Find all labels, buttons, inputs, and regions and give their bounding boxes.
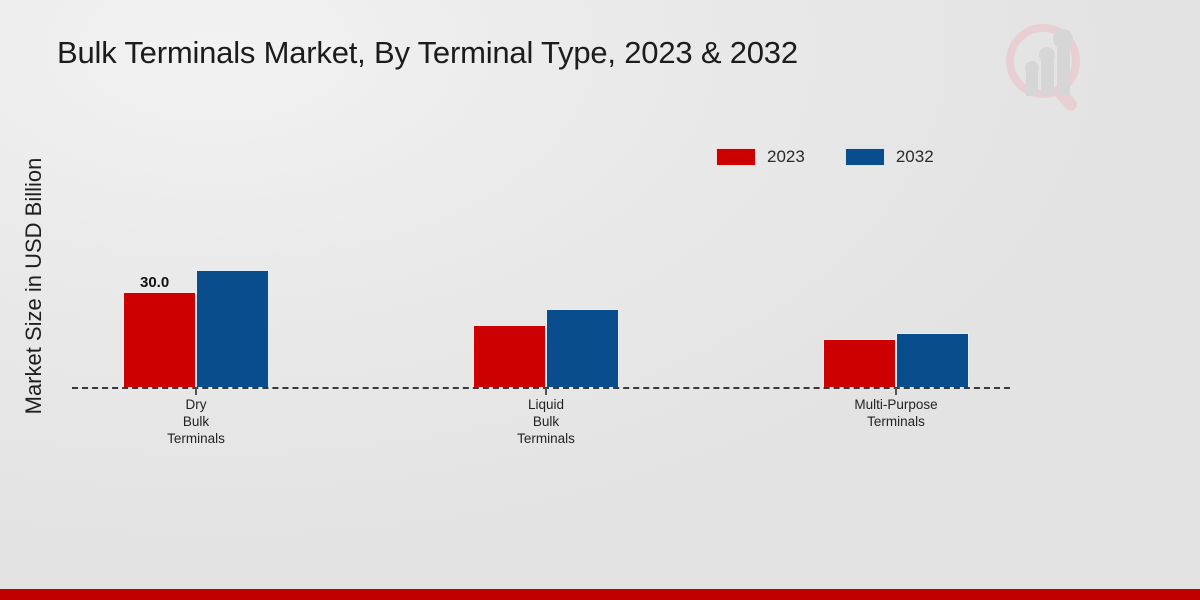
category-label-line: Multi-Purpose	[796, 396, 996, 413]
axis-baseline	[72, 387, 1010, 389]
axis-tick-dry-bulk-terminals	[195, 388, 197, 395]
category-label-multi-purpose-terminals: Multi-Purpose Terminals	[796, 396, 996, 430]
category-label-line: Liquid	[446, 396, 646, 413]
bar-2032-liquid-bulk-terminals[interactable]	[546, 309, 619, 387]
bar-2032-multi-purpose-terminals[interactable]	[896, 333, 969, 387]
bar-2023-dry-bulk-terminals[interactable]	[123, 292, 196, 387]
bar-value-label-2023-dry-bulk-terminals: 30.0	[140, 274, 169, 291]
bar-2023-multi-purpose-terminals[interactable]	[823, 339, 896, 387]
plot-area: 30.0 Dry Bulk Terminals Liquid Bulk Term…	[0, 0, 1200, 600]
category-label-line: Dry	[96, 396, 296, 413]
category-label-line: Terminals	[446, 430, 646, 447]
chart-canvas: Bulk Terminals Market, By Terminal Type,…	[0, 0, 1200, 600]
axis-tick-multi-purpose-terminals	[895, 388, 897, 395]
category-label-line: Bulk	[96, 413, 296, 430]
category-label-liquid-bulk-terminals: Liquid Bulk Terminals	[446, 396, 646, 447]
category-label-line: Terminals	[96, 430, 296, 447]
axis-tick-liquid-bulk-terminals	[545, 388, 547, 395]
category-label-line: Terminals	[796, 413, 996, 430]
bar-2032-dry-bulk-terminals[interactable]	[196, 270, 269, 387]
bar-2023-liquid-bulk-terminals[interactable]	[473, 325, 546, 387]
category-label-dry-bulk-terminals: Dry Bulk Terminals	[96, 396, 296, 447]
category-label-line: Bulk	[446, 413, 646, 430]
footer-accent-bar	[0, 589, 1200, 600]
